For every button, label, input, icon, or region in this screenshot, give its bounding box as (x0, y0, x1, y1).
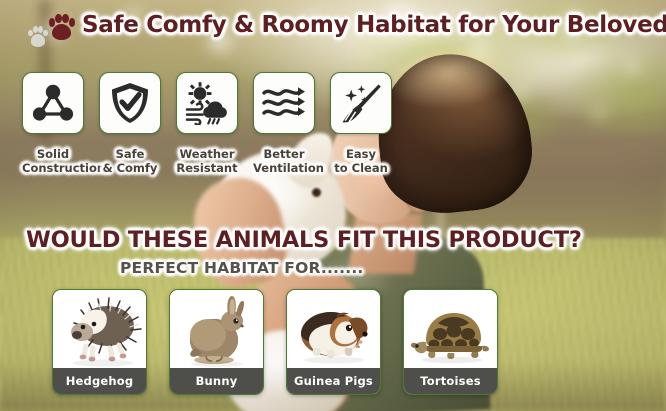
feature-label: Solid Construction (22, 147, 84, 175)
animal-card-label: Tortoises (404, 368, 497, 394)
subtitle-headline: PERFECT HABITAT FOR....... (120, 259, 364, 277)
product-infographic: Safe Comfy & Roomy Habitat for Your Belo… (0, 0, 666, 411)
sun-cloud-rain-wind-icon (176, 72, 238, 134)
feature-solid-construction[interactable]: Solid Construction (22, 72, 84, 175)
feature-safe-comfy[interactable]: Safe & Comfy (99, 72, 161, 175)
feature-easy-to-clean[interactable]: Easy to Clean (330, 72, 392, 175)
page-title: Safe Comfy & Roomy Habitat for Your Belo… (82, 12, 666, 38)
feature-label: Safe & Comfy (99, 147, 161, 175)
animal-card-hedgehog[interactable]: Hedgehog (52, 289, 147, 395)
animal-card-guinea-pigs[interactable]: Guinea Pigs (286, 289, 381, 395)
animal-card-list: Hedgehog (52, 289, 498, 395)
animal-card-bunny[interactable]: Bunny (169, 289, 264, 395)
airflow-waves-icon (253, 72, 315, 134)
paw-print-icon (48, 13, 75, 41)
header-band: Safe Comfy & Roomy Habitat for Your Belo… (0, 0, 666, 52)
tortoise-photo (404, 290, 497, 368)
animal-card-label: Guinea Pigs (287, 368, 380, 394)
solid-construction-icon (22, 72, 84, 134)
feature-label: Better Ventilation (253, 147, 315, 175)
feature-label: Easy to Clean (330, 147, 392, 175)
shield-check-icon (99, 72, 161, 134)
animal-card-label: Hedgehog (53, 368, 146, 394)
feature-list: Solid Construction Safe & Comfy (22, 72, 392, 175)
feature-better-ventilation[interactable]: Better Ventilation (253, 72, 315, 175)
guinea-pig-photo (287, 290, 380, 368)
hedgehog-photo (53, 290, 146, 368)
broom-sparkle-icon (330, 72, 392, 134)
animal-card-tortoises[interactable]: Tortoises (403, 289, 498, 395)
question-headline: WOULD THESE ANIMALS FIT THIS PRODUCT? (26, 227, 582, 253)
feature-weather-resistant[interactable]: Weather Resistant (176, 72, 238, 175)
paw-print-ghost-icon (28, 26, 48, 47)
animal-card-label: Bunny (170, 368, 263, 394)
feature-label: Weather Resistant (176, 147, 238, 175)
bunny-photo (170, 290, 263, 368)
